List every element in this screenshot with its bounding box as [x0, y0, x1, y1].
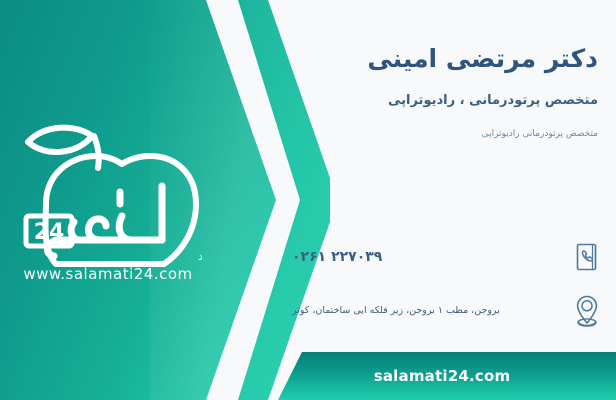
apple-leaf-icon — [28, 128, 92, 152]
contact-block: ۲۲۷۰۳۹ ۰۲۶۱ بروجن، مطب ۱ بروجن، زیر فلکه… — [286, 238, 604, 346]
address-text: بروجن، مطب ۱ بروجن، زیر فلکه ایی ساختمان… — [286, 304, 570, 317]
footer-bar: salamati24.com — [278, 352, 616, 400]
doctor-specialty-secondary: متخصص پرتودرمانی رادیوتراپی — [286, 128, 598, 141]
logo-url: www.salamati24.com — [23, 265, 192, 282]
business-card: 24 براحتی یک لبخند www.salamati24.com دک… — [0, 0, 616, 400]
svg-text:24: 24 — [34, 220, 65, 245]
salamati24-logo: 24 براحتی یک لبخند www.salamati24.com — [12, 112, 202, 282]
phone-row[interactable]: ۲۲۷۰۳۹ ۰۲۶۱ — [286, 238, 604, 276]
apple-stem-icon — [94, 136, 99, 168]
doctor-name: دکتر مرتضی امینی — [286, 44, 598, 74]
footer-site-url[interactable]: salamati24.com — [374, 367, 521, 385]
doctor-specialty: متخصص پرتودرمانی ، رادیوتراپی — [286, 92, 598, 110]
phone-number: ۲۲۷۰۳۹ ۰۲۶۱ — [286, 249, 570, 265]
phonebook-icon — [570, 238, 604, 276]
map-pin-icon — [570, 292, 604, 330]
address-row[interactable]: بروجن، مطب ۱ بروجن، زیر فلکه ایی ساختمان… — [286, 292, 604, 330]
logo-tagline: براحتی یک لبخند — [198, 250, 202, 263]
